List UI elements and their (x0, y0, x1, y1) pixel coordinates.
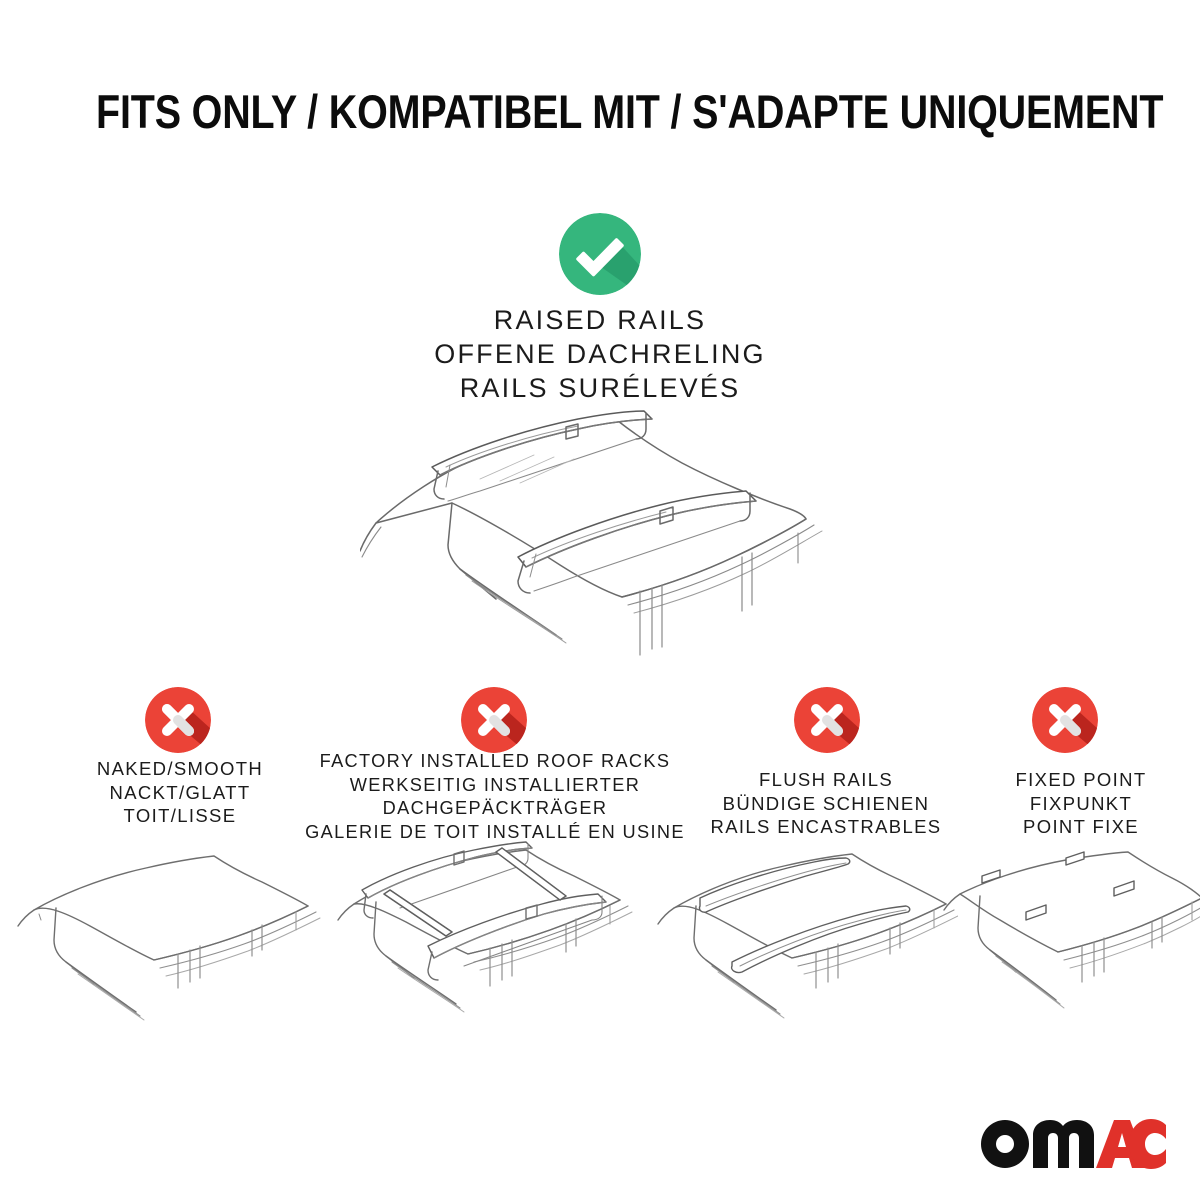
car-roof-bare-illustration (12, 848, 322, 1053)
incompatible-label-factory-racks: FACTORY INSTALLED ROOF RACKS WERKSEITIG … (300, 750, 690, 844)
label-line-en: FACTORY INSTALLED ROOF RACKS (300, 750, 690, 774)
incompatible-label-naked-smooth: NAKED/SMOOTH NACKT/GLATT TOIT/LISSE (45, 757, 315, 828)
label-line-fr: POINT FIXE (960, 815, 1200, 839)
logo-letter-m (1033, 1120, 1094, 1168)
x-circle-icon (461, 687, 527, 753)
label-line-de-2: DACHGEPÄCKTRÄGER (300, 797, 690, 821)
infographic-page: FITS ONLY / KOMPATIBEL MIT / S'ADAPTE UN… (0, 0, 1200, 1200)
label-line-de-1: WERKSEITIG INSTALLIERTER (300, 774, 690, 798)
x-circle-icon (794, 687, 860, 753)
label-line-en: FLUSH RAILS (690, 768, 962, 792)
label-line-de: FIXPUNKT (960, 792, 1200, 816)
label-line-en: FIXED POINT (960, 768, 1200, 792)
compatible-label-line-de: OFFENE DACHRELING (300, 337, 900, 371)
compatible-label: RAISED RAILS OFFENE DACHRELING RAILS SUR… (300, 303, 900, 405)
check-circle-icon (559, 213, 641, 295)
x-circle-icon (145, 687, 211, 753)
logo-letter-o (981, 1120, 1029, 1168)
car-roof-raised-rails-illustration (360, 405, 840, 680)
car-roof-flush-rails-illustration (648, 848, 958, 1048)
label-line-fr: RAILS ENCASTRABLES (690, 815, 962, 839)
x-circle-icon (1032, 687, 1098, 753)
incompatible-label-fixed-point: FIXED POINT FIXPUNKT POINT FIXE (960, 768, 1200, 839)
incompatible-label-flush-rails: FLUSH RAILS BÜNDIGE SCHIENEN RAILS ENCAS… (690, 768, 962, 839)
compatible-label-line-en: RAISED RAILS (300, 303, 900, 337)
compatible-label-line-fr: RAILS SURÉLEVÉS (300, 371, 900, 405)
omac-logo (980, 1118, 1166, 1174)
page-title: FITS ONLY / KOMPATIBEL MIT / S'ADAPTE UN… (96, 86, 1104, 138)
label-line-de: BÜNDIGE SCHIENEN (690, 792, 962, 816)
label-line-fr: TOIT/LISSE (45, 804, 315, 828)
label-line-de: NACKT/GLATT (45, 781, 315, 805)
car-roof-fixed-points-illustration (938, 848, 1200, 1048)
car-roof-factory-racks-illustration (318, 838, 658, 1050)
label-line-en: NAKED/SMOOTH (45, 757, 315, 781)
